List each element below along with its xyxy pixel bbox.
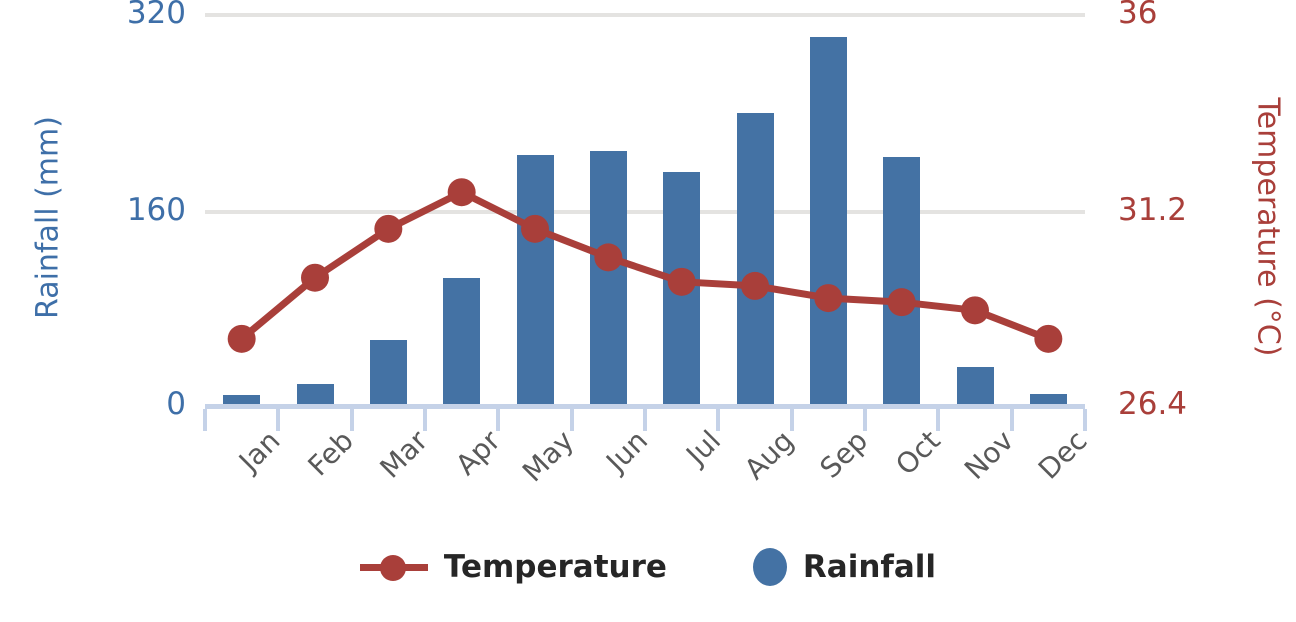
bar-jul[interactable]: [663, 172, 700, 404]
x-axis-label-jun: Jun: [599, 424, 653, 478]
bar-jun[interactable]: [590, 151, 627, 404]
y-axis-right-tick-26-4: 26.4: [1118, 389, 1187, 420]
gridline-320: [205, 13, 1085, 17]
x-axis-tick: [570, 409, 574, 431]
bar-apr[interactable]: [443, 278, 480, 404]
x-axis-label-oct: Oct: [889, 424, 947, 482]
y-axis-right-tick-36: 36: [1118, 0, 1157, 29]
bar-aug[interactable]: [737, 113, 774, 404]
x-axis-tick: [863, 409, 867, 431]
y-axis-left-tick-0: 0: [166, 389, 186, 420]
bar-feb[interactable]: [297, 384, 334, 404]
legend-item-rainfall[interactable]: Rainfall: [753, 548, 936, 586]
legend-line-marker-icon: [360, 553, 428, 581]
x-axis-tick: [716, 409, 720, 431]
x-axis-tick: [1010, 409, 1014, 431]
legend: Temperature Rainfall: [0, 548, 1296, 586]
x-axis-label-apr: Apr: [449, 424, 507, 482]
y-axis-right-tick-31-2: 31.2: [1118, 195, 1187, 226]
bar-dec[interactable]: [1030, 394, 1067, 404]
y-axis-left-tick-320: 320: [127, 0, 186, 29]
x-axis-label-mar: Mar: [373, 424, 434, 485]
bar-oct[interactable]: [883, 157, 920, 404]
rainfall-temperature-chart: Rainfall (mm) Temperature (°C) 320 160 0…: [0, 0, 1296, 622]
x-axis-tick: [350, 409, 354, 431]
x-axis-label-aug: Aug: [738, 424, 800, 486]
y-axis-left-title: Rainfall (mm): [31, 98, 66, 338]
x-axis-tick: [643, 409, 647, 431]
bar-nov[interactable]: [957, 367, 994, 404]
x-axis-tick: [790, 409, 794, 431]
plot-area: [205, 13, 1085, 404]
x-axis-label-may: May: [516, 424, 580, 488]
gridline-160: [205, 210, 1085, 214]
x-axis-tick: [423, 409, 427, 431]
bar-mar[interactable]: [370, 340, 407, 404]
x-axis-tick: [1083, 409, 1087, 431]
x-axis-label-jul: Jul: [680, 424, 727, 471]
x-axis-tick: [936, 409, 940, 431]
x-axis-label-dec: Dec: [1032, 424, 1094, 486]
x-axis-tick: [203, 409, 207, 431]
x-axis-label-sep: Sep: [813, 424, 874, 485]
x-axis-label-jan: Jan: [233, 424, 287, 478]
legend-item-temperature[interactable]: Temperature: [360, 549, 667, 585]
x-axis-tick: [276, 409, 280, 431]
y-axis-right-title: Temperature (°C): [1251, 98, 1286, 338]
legend-label-rainfall: Rainfall: [803, 549, 936, 585]
x-axis-label-nov: Nov: [958, 424, 1020, 486]
bar-jan[interactable]: [223, 395, 260, 404]
legend-label-temperature: Temperature: [444, 549, 667, 585]
bar-may[interactable]: [517, 155, 554, 404]
bar-sep[interactable]: [810, 37, 847, 404]
y-axis-left-tick-160: 160: [127, 195, 186, 226]
x-axis-label-feb: Feb: [302, 424, 360, 482]
legend-circle-icon: [753, 548, 787, 586]
x-axis-tick: [496, 409, 500, 431]
